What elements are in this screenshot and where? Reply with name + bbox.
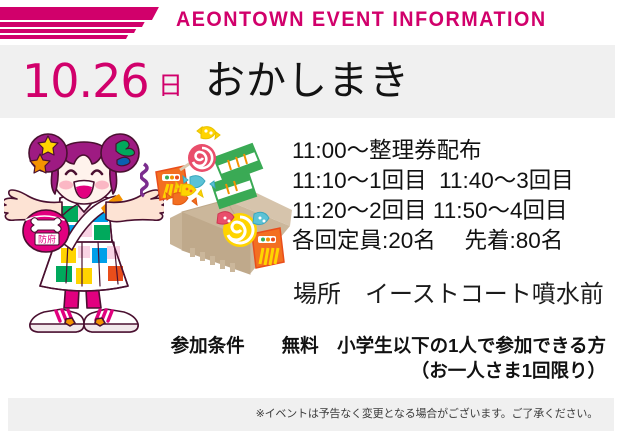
footer-note-band: ※イベントは予告なく変更となる場合がございます。ご了承ください。	[8, 398, 614, 431]
schedule-line: 11:20〜2回目 11:50〜4回目	[292, 196, 617, 226]
illustration-area: 防府	[0, 118, 290, 338]
header-stripe-icon	[0, 22, 145, 27]
schedule-line: 各回定員:20名 先着:80名	[292, 226, 617, 256]
schedule-line: 11:00〜整理券配布	[292, 136, 617, 166]
conditions-line: 参加条件 無料 小学生以下の1人で参加できる方	[0, 333, 606, 358]
candy-box-illustration	[140, 122, 292, 284]
event-title-band: 10.26 日 おかしまき	[0, 45, 615, 118]
conditions-block: 参加条件 無料 小学生以下の1人で参加できる方 （お一人さま1回限り）	[0, 333, 614, 383]
schedule-line: 11:10〜1回目 11:40〜3回目	[292, 166, 617, 196]
event-title: おかしまき	[0, 53, 615, 109]
header-stripe-icon	[0, 35, 128, 39]
venue-line: 場所 イーストコート噴水前	[293, 278, 604, 312]
header-stripe-icon	[0, 7, 159, 20]
schedule-block: 11:00〜整理券配布 11:10〜1回目 11:40〜3回目 11:20〜2回…	[292, 136, 617, 256]
header-title: AEONTOWN EVENT INFORMATION	[176, 8, 547, 32]
svg-text:防府: 防府	[38, 234, 56, 246]
footer-note: ※イベントは予告なく変更となる場合がございます。ご了承ください。	[256, 405, 598, 421]
header-bar: AEONTOWN EVENT INFORMATION	[0, 0, 622, 44]
header-stripe-icon	[0, 29, 136, 33]
conditions-line: （お一人さま1回限り）	[0, 358, 606, 383]
